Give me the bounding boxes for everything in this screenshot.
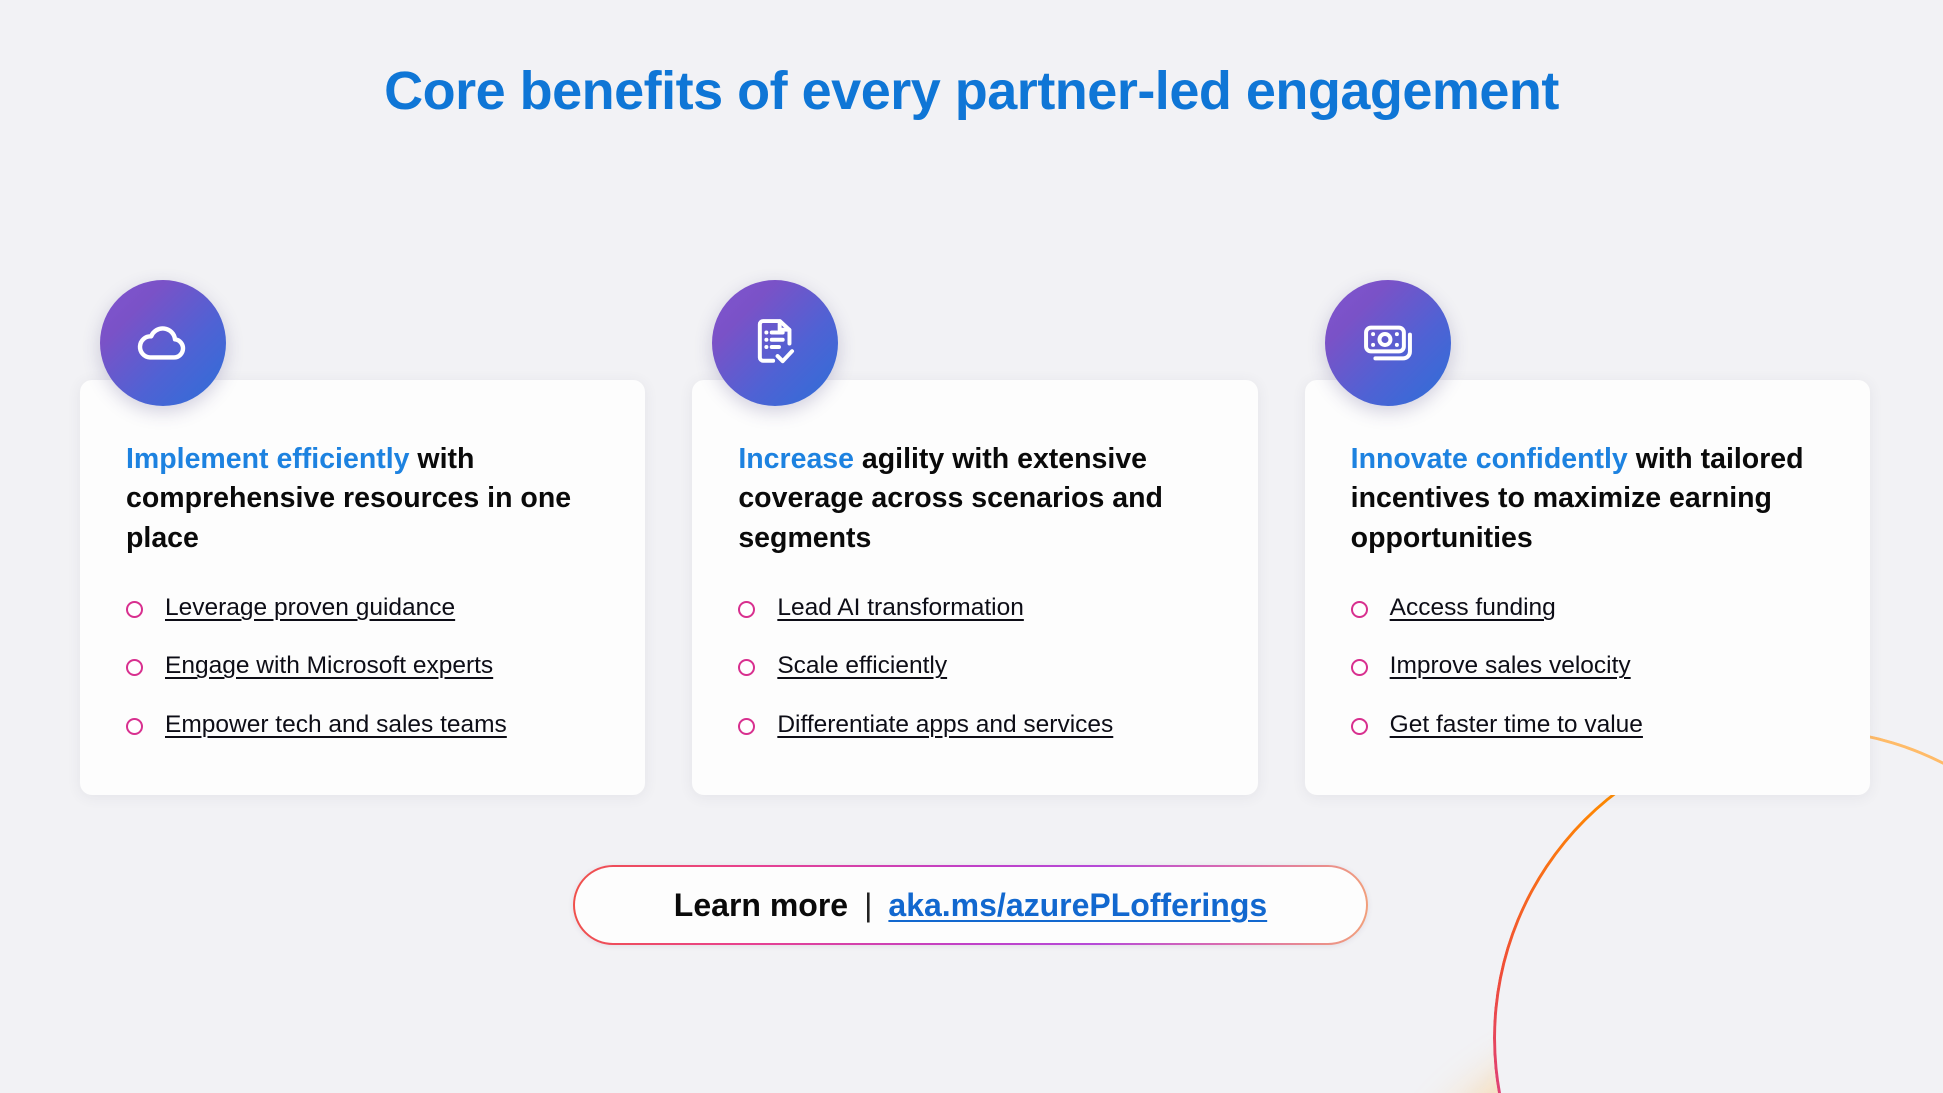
cloud-icon bbox=[100, 280, 226, 406]
benefit-card-3: Innovate confidently with tailored incen… bbox=[1305, 380, 1870, 795]
list-item[interactable]: Engage with Microsoft experts bbox=[126, 650, 599, 682]
card-body-3: Innovate confidently with tailored incen… bbox=[1305, 380, 1870, 795]
list-item[interactable]: Get faster time to value bbox=[1351, 709, 1824, 741]
page-title: Core benefits of every partner-led engag… bbox=[0, 60, 1943, 122]
benefit-link[interactable]: Empower tech and sales teams bbox=[165, 709, 507, 741]
list-item[interactable]: Leverage proven guidance bbox=[126, 592, 599, 624]
benefit-link[interactable]: Differentiate apps and services bbox=[777, 709, 1113, 741]
card-heading-1: Implement efficiently with comprehensive… bbox=[126, 440, 599, 558]
learn-more-button-inner: Learn more | aka.ms/azurePLofferings bbox=[575, 867, 1365, 942]
benefit-link[interactable]: Improve sales velocity bbox=[1390, 650, 1631, 682]
benefit-link[interactable]: Leverage proven guidance bbox=[165, 592, 455, 624]
card-heading-highlight-1: Implement efficiently bbox=[126, 443, 409, 475]
learn-more-button[interactable]: Learn more | aka.ms/azurePLofferings bbox=[573, 865, 1368, 945]
list-item[interactable]: Scale efficiently bbox=[738, 650, 1211, 682]
card-links-2: Lead AI transformation Scale efficiently… bbox=[738, 592, 1211, 741]
cta-separator: | bbox=[864, 887, 872, 924]
circle-bullet-icon bbox=[126, 718, 143, 735]
card-heading-2: Increase agility with extensive coverage… bbox=[738, 440, 1211, 558]
benefit-link[interactable]: Get faster time to value bbox=[1390, 709, 1643, 741]
benefit-card-1: Implement efficiently with comprehensive… bbox=[80, 380, 645, 795]
circle-bullet-icon bbox=[1351, 718, 1368, 735]
list-item[interactable]: Differentiate apps and services bbox=[738, 709, 1211, 741]
benefit-card-2: Increase agility with extensive coverage… bbox=[692, 380, 1257, 795]
card-links-3: Access funding Improve sales velocity Ge… bbox=[1351, 592, 1824, 741]
card-links-1: Leverage proven guidance Engage with Mic… bbox=[126, 592, 599, 741]
card-body-2: Increase agility with extensive coverage… bbox=[692, 380, 1257, 795]
checklist-document-icon bbox=[712, 280, 838, 406]
card-body-1: Implement efficiently with comprehensive… bbox=[80, 380, 645, 795]
circle-bullet-icon bbox=[1351, 659, 1368, 676]
learn-more-label: Learn more bbox=[674, 887, 848, 924]
slide-root: Core benefits of every partner-led engag… bbox=[0, 0, 1943, 1093]
benefit-link[interactable]: Access funding bbox=[1390, 592, 1556, 624]
list-item[interactable]: Empower tech and sales teams bbox=[126, 709, 599, 741]
card-heading-highlight-2: Increase bbox=[738, 443, 854, 475]
benefit-link[interactable]: Scale efficiently bbox=[777, 650, 947, 682]
card-heading-3: Innovate confidently with tailored incen… bbox=[1351, 440, 1824, 558]
benefit-link[interactable]: Lead AI transformation bbox=[777, 592, 1024, 624]
circle-bullet-icon bbox=[738, 601, 755, 618]
circle-bullet-icon bbox=[126, 601, 143, 618]
circle-bullet-icon bbox=[1351, 601, 1368, 618]
circle-bullet-icon bbox=[126, 659, 143, 676]
benefit-cards-row: Implement efficiently with comprehensive… bbox=[80, 380, 1870, 795]
learn-more-url-link[interactable]: aka.ms/azurePLofferings bbox=[888, 887, 1267, 924]
list-item[interactable]: Access funding bbox=[1351, 592, 1824, 624]
circle-bullet-icon bbox=[738, 718, 755, 735]
list-item[interactable]: Lead AI transformation bbox=[738, 592, 1211, 624]
list-item[interactable]: Improve sales velocity bbox=[1351, 650, 1824, 682]
circle-bullet-icon bbox=[738, 659, 755, 676]
benefit-link[interactable]: Engage with Microsoft experts bbox=[165, 650, 493, 682]
card-heading-highlight-3: Innovate confidently bbox=[1351, 443, 1628, 475]
banknote-money-icon bbox=[1325, 280, 1451, 406]
